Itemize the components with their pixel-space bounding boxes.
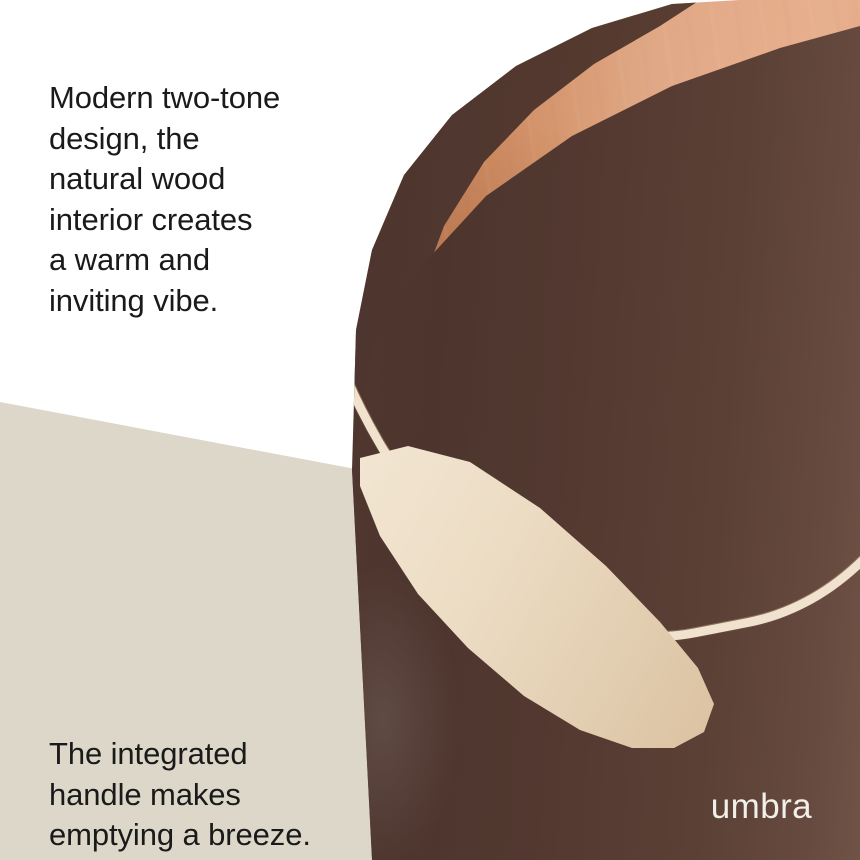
bottom-headline-text: The integrated handle makes emptying a b… — [49, 734, 349, 856]
top-headline-text: Modern two-tone design, the natural wood… — [49, 78, 317, 322]
umbra-brand-wordmark: umbra — [711, 789, 812, 824]
product-card: Modern two-tone design, the natural wood… — [0, 0, 860, 860]
